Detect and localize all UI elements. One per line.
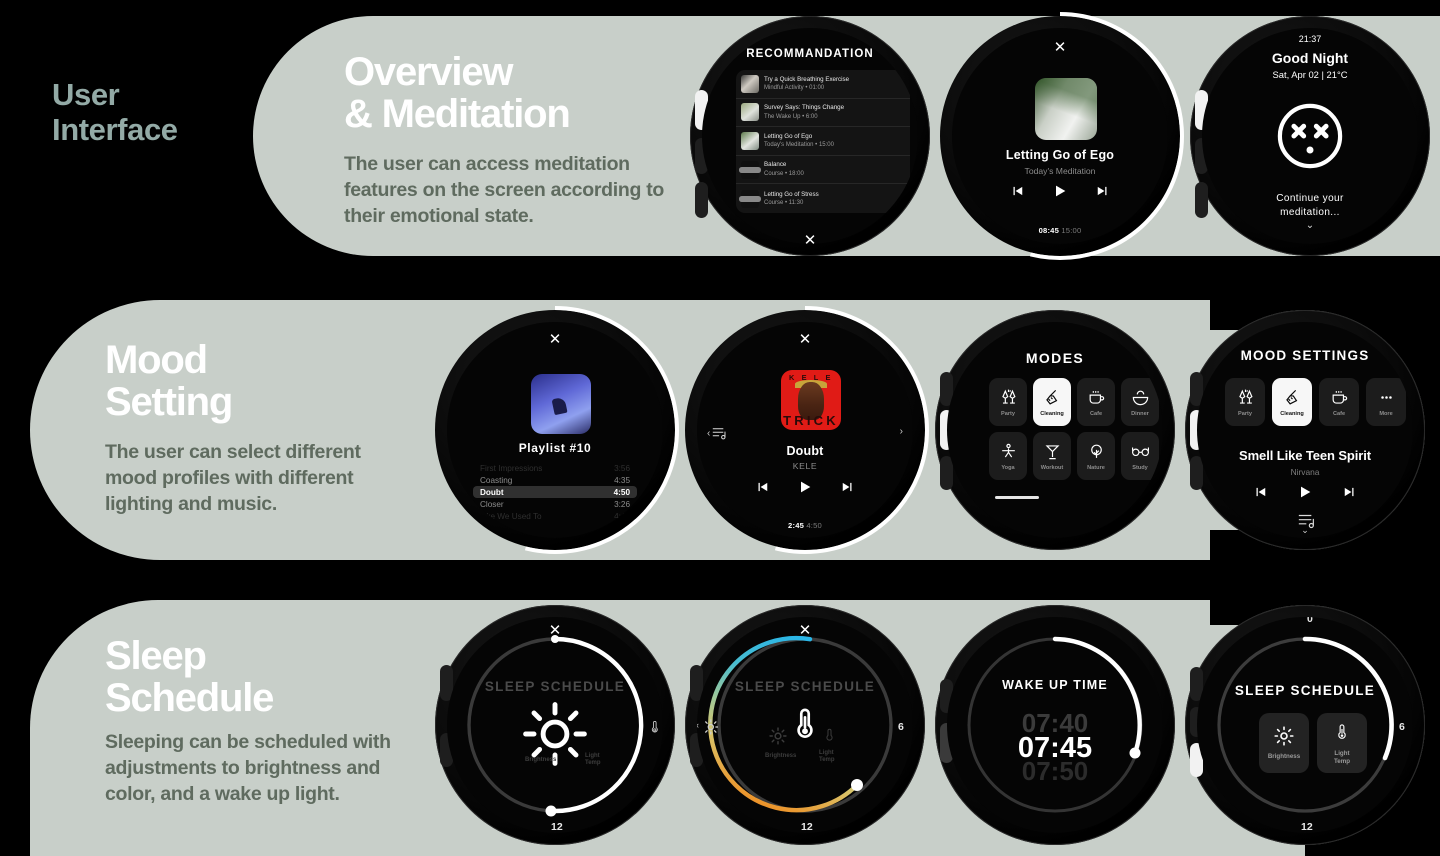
list-item[interactable]: First Impressions 3:56 [473, 462, 637, 474]
chevron-right-icon[interactable]: › [900, 426, 903, 437]
thermometer-icon [1334, 721, 1350, 743]
tile-label-line2: Temp [1334, 758, 1350, 765]
watch-music-player[interactable]: ✕ K E L E TRICK ‹ › Doubt KELE 2:45 4:50 [685, 310, 925, 550]
list-item[interactable]: Closer 3:26 [473, 498, 637, 510]
track-name: Coasting [480, 476, 512, 485]
player-controls [952, 183, 1168, 199]
watch-screen: ✕ Letting Go of Ego Today's Meditation 0… [952, 28, 1168, 244]
track-time: 3:56 [614, 464, 630, 473]
list-item-subtitle: Course • 11:30 [764, 199, 819, 208]
mode-label: Dinner [1131, 411, 1149, 417]
list-item-subtitle: Course • 18:00 [764, 170, 804, 179]
thermometer-icon [647, 721, 660, 734]
track-list[interactable]: First Impressions 3:56 Coasting 4:35 Dou… [473, 462, 637, 522]
playback-time: 08:45 15:00 [952, 226, 1168, 235]
dial-label-bottom: 12 [551, 821, 563, 833]
list-item-subtitle: The Wake Up • 6:00 [764, 113, 844, 122]
mood-tiles: Party Cleaning Cafe More [1225, 378, 1406, 426]
player-controls [1197, 484, 1413, 500]
watch-screen: RECOMMANDATION Try a Quick Breathing Exe… [702, 28, 918, 244]
broom-icon [1043, 388, 1062, 407]
list-item-title: Try a Quick Breathing Exercise [764, 75, 849, 84]
album-art: K E L E TRICK [781, 370, 841, 430]
tree-icon [1087, 442, 1106, 461]
track-time: 4:50 [614, 488, 630, 497]
dial-label-bottom: 12 [801, 821, 813, 833]
light-temp-ghost-label: Light Temp [585, 753, 609, 767]
wake-up-title: WAKE UP TIME [947, 678, 1163, 692]
list-item-subtitle: Mindful Activity • 01:00 [764, 84, 849, 93]
mood-tile-more[interactable]: More [1366, 378, 1406, 426]
queue-nav-left[interactable]: ‹ [707, 426, 729, 440]
brightness-ghost-label: Brightness [765, 753, 796, 760]
list-item[interactable]: Try a Quick Breathing Exercise Mindful A… [736, 70, 910, 99]
close-icon[interactable]: ✕ [702, 233, 918, 244]
brightness-tile[interactable]: Brightness [1259, 713, 1309, 773]
thermometer-icon-small [823, 727, 836, 743]
photo-thumb [741, 75, 759, 93]
mode-tile-cafe[interactable]: Cafe [1077, 378, 1115, 426]
duration-time: 4:50 [806, 521, 822, 530]
footer-line-2: meditation... [1202, 206, 1418, 220]
section-title-sleep-line2: Schedule [105, 678, 273, 720]
mood-settings-header: MOOD SETTINGS [1197, 348, 1413, 363]
watch-screen: ✕ SLEEP SCHEDULE [697, 617, 913, 833]
watch-recommendation[interactable]: RECOMMANDATION Try a Quick Breathing Exe… [690, 16, 930, 256]
track-artist: KELE [697, 461, 913, 471]
recommendation-list[interactable]: Try a Quick Breathing Exercise Mindful A… [736, 70, 910, 213]
sleep-title: SLEEP SCHEDULE [447, 679, 663, 694]
list-item-selected[interactable]: Doubt 4:50 [473, 486, 637, 498]
watch-good-night[interactable]: 21:37 Good Night Sat, Apr 02 | 21°C Cont… [1190, 16, 1430, 256]
sleep-controls: Brightness LightTemp [1259, 713, 1367, 773]
modes-grid-row-1: Party Cleaning Cafe Dinner Reading [989, 378, 1163, 426]
list-item-title: Letting Go of Ego [764, 132, 834, 141]
watch-sleep-light-temp[interactable]: ✕ SLEEP SCHEDULE [685, 605, 925, 845]
list-item[interactable]: Coasting 4:35 [473, 474, 637, 486]
dizzy-face-icon [1275, 101, 1345, 171]
dial-label-top: 0 [1307, 617, 1313, 625]
sun-icon [1274, 726, 1294, 746]
photo-thumb [741, 132, 759, 150]
track-subtitle: Today's Meditation [952, 166, 1168, 176]
watch-screen: SLEEP SCHEDULE Brightness [1197, 617, 1413, 833]
section-body-mood: The user can select different mood profi… [105, 440, 395, 518]
list-item-title: Survey Says: Things Change [764, 103, 844, 112]
mode-label: Yoga [1001, 465, 1014, 471]
track-time: 4:41 [614, 512, 630, 521]
watch-screen: ✕ K E L E TRICK ‹ › Doubt KELE 2:45 4:50 [697, 322, 913, 538]
mood-tile-cafe[interactable]: Cafe [1319, 378, 1359, 426]
track-title: Smell Like Teen Spirit [1197, 448, 1413, 463]
list-item[interactable]: Survey Says: Things Change The Wake Up •… [736, 99, 910, 128]
track-name: Doubt [480, 488, 504, 497]
mode-label: Cafe [1090, 411, 1102, 417]
mode-tile-study[interactable]: Study [1121, 432, 1159, 480]
mood-label: Cafe [1333, 411, 1345, 417]
footer-line-1: Continue your [1202, 192, 1418, 206]
watch-screen: WAKE UP TIME 07:40 07:45 07:50 [947, 617, 1163, 833]
watch-screen: 21:37 Good Night Sat, Apr 02 | 21°C Cont… [1202, 28, 1418, 244]
yoga-pose-icon [999, 442, 1018, 461]
player-controls [697, 479, 913, 495]
section-title-sleep-line1: Sleep [105, 636, 273, 678]
track-artist: Nirvana [1197, 467, 1413, 477]
mode-tile-party[interactable]: Party [989, 378, 1027, 426]
track-time: 4:35 [614, 476, 630, 485]
cheers-icon [999, 388, 1018, 407]
watch-sleep-schedule[interactable]: SLEEP SCHEDULE Brightness [1185, 605, 1425, 845]
close-icon[interactable]: ✕ [697, 332, 913, 347]
dumbbell-icon [1043, 442, 1062, 461]
section-title-overview: Overview & Meditation [344, 52, 570, 135]
sleep-title: SLEEP SCHEDULE [1197, 683, 1413, 698]
brand-line-2: Interface [52, 113, 178, 148]
playlist-cover [531, 374, 591, 434]
elapsed-time: 2:45 [788, 521, 804, 530]
thermometer-icon [789, 695, 821, 753]
watch-side-button-bottom[interactable] [695, 182, 708, 218]
brightness-ghost-label: Brightness [525, 757, 556, 764]
duration-time: 15:00 [1061, 226, 1081, 235]
section-title-overview-line1: Overview [344, 52, 570, 94]
section-title-mood: Mood Setting [105, 340, 232, 423]
previous-icon[interactable] [1253, 485, 1267, 499]
list-item[interactable]: Balance Course • 18:00 [736, 156, 910, 185]
dinner-bowl-icon [1131, 388, 1150, 407]
list-item-title: Balance [764, 160, 804, 169]
list-item[interactable]: Like We Used To 4:41 [473, 510, 637, 522]
section-title-mood-line2: Setting [105, 382, 232, 424]
brand-title: User Interface [52, 78, 178, 147]
course-thumb [741, 190, 759, 208]
track-name: Closer [480, 500, 504, 509]
mode-label: Party [1001, 411, 1015, 417]
section-body-sleep: Sleeping can be scheduled with adjustmen… [105, 730, 425, 808]
greeting-text: Good Night [1202, 50, 1418, 66]
mood-label: Cleaning [1280, 411, 1304, 417]
watch-meditation-player[interactable]: ✕ Letting Go of Ego Today's Meditation 0… [940, 16, 1180, 256]
chevron-down-icon[interactable]: ⌄ [1202, 220, 1418, 231]
chevron-left-icon[interactable]: ‹ [707, 428, 710, 439]
album-art [1035, 78, 1097, 140]
album-title-label: TRICK [781, 413, 841, 428]
sun-icon-small [769, 727, 787, 745]
mood-label: More [1379, 411, 1392, 417]
course-thumb [741, 161, 759, 179]
sleep-title: SLEEP SCHEDULE [697, 679, 913, 694]
watch-screen: ✕ Playlist #10 First Impressions 3:56 Co… [447, 322, 663, 538]
track-title: Letting Go of Ego [952, 148, 1168, 162]
mode-tile-workout[interactable]: Workout [1033, 432, 1071, 480]
tile-label: Brightness [1268, 753, 1300, 760]
track-title: Doubt [697, 444, 913, 458]
elapsed-time: 08:45 [1039, 226, 1059, 235]
list-item-title: Letting Go of Stress [764, 190, 819, 199]
dial-label-right: 6 [898, 721, 904, 733]
more-dots-icon [1377, 388, 1396, 407]
tile-label-line1: Light [1334, 750, 1349, 757]
sun-icon-side[interactable] [702, 719, 718, 735]
play-icon[interactable] [1052, 183, 1068, 199]
section-title-mood-line1: Mood [105, 340, 232, 382]
play-icon[interactable] [797, 479, 813, 495]
tile-label: LightTemp [1334, 750, 1350, 765]
modes-header: MODES [947, 350, 1163, 366]
mode-tile-nature[interactable]: Nature [1077, 432, 1115, 480]
mood-tile-party[interactable]: Party [1225, 378, 1265, 426]
watch-playlist[interactable]: ✕ Playlist #10 First Impressions 3:56 Co… [435, 310, 675, 550]
play-icon[interactable] [1297, 484, 1313, 500]
time-next[interactable]: 07:50 [947, 756, 1163, 787]
brand-line-1: User [52, 78, 178, 113]
queue-list-icon[interactable] [712, 426, 729, 440]
track-name: First Impressions [480, 464, 542, 473]
track-time: 3:26 [614, 500, 630, 509]
track-name: Like We Used To [480, 512, 542, 521]
mood-label: Party [1238, 411, 1252, 417]
playback-time: 2:45 4:50 [697, 521, 913, 530]
dial-label-right: 6 [1399, 721, 1405, 733]
watch-sleep-brightness[interactable]: ✕ SLEEP SCHEDULE Brightness Light Temp 1… [435, 605, 675, 845]
date-weather: Sat, Apr 02 | 21°C [1202, 69, 1418, 80]
watch-screen: MODES Party Cleaning Cafe Dinner Reading [947, 322, 1163, 538]
light-temp-tile[interactable]: LightTemp [1317, 713, 1367, 773]
list-item-subtitle: Today's Meditation • 15:00 [764, 141, 834, 150]
light-temp-ghost-label: Light Temp [819, 750, 843, 764]
modes-grid-row-2: Yoga Workout Nature Study Shuffle [989, 432, 1163, 480]
playlist-title: Playlist #10 [447, 441, 663, 455]
mode-label: Nature [1087, 465, 1105, 471]
mode-label: Cleaning [1040, 411, 1064, 417]
next-icon[interactable] [841, 480, 855, 494]
photo-thumb [741, 103, 759, 121]
mode-tile-dinner[interactable]: Dinner [1121, 378, 1159, 426]
watch-mood-settings[interactable]: MOOD SETTINGS Party Cleaning Cafe More S… [1185, 310, 1425, 550]
home-indicator[interactable] [995, 496, 1039, 499]
coffee-cup-icon [1087, 388, 1106, 407]
glasses-icon [1131, 442, 1150, 461]
broom-icon [1283, 388, 1302, 407]
footer-text: Continue your meditation... [1202, 192, 1418, 220]
mode-label: Study [1132, 465, 1148, 471]
previous-icon[interactable] [1010, 184, 1024, 198]
coffee-cup-icon [1330, 388, 1349, 407]
mood-tile-cleaning[interactable]: Cleaning [1272, 378, 1312, 426]
watch-modes[interactable]: MODES Party Cleaning Cafe Dinner Reading [935, 310, 1175, 550]
cheers-icon [1236, 388, 1255, 407]
watch-screen: ✕ SLEEP SCHEDULE Brightness Light Temp 1… [447, 617, 663, 833]
section-body-overview: The user can access meditation features … [344, 152, 669, 230]
clock-time: 21:37 [1202, 34, 1418, 44]
chevron-left-icon[interactable]: ‹ [697, 720, 699, 730]
mode-label: Workout [1041, 465, 1064, 471]
mode-tile-cleaning[interactable]: Cleaning [1033, 378, 1071, 426]
section-title-overview-line2: & Meditation [344, 94, 570, 136]
recommendation-header: RECOMMANDATION [702, 48, 918, 60]
next-icon[interactable] [1343, 485, 1357, 499]
next-icon[interactable] [1096, 184, 1110, 198]
chevron-down-icon[interactable]: ⌄ [1197, 525, 1413, 536]
watch-wake-up-time[interactable]: WAKE UP TIME 07:40 07:45 07:50 [935, 605, 1175, 845]
watch-screen: MOOD SETTINGS Party Cleaning Cafe More S… [1197, 322, 1413, 538]
previous-icon[interactable] [755, 480, 769, 494]
close-icon[interactable]: ✕ [952, 40, 1168, 55]
dial-label-bottom: 12 [1301, 821, 1313, 833]
list-item[interactable]: Letting Go of Stress Course • 11:30 [736, 184, 910, 213]
close-icon[interactable]: ✕ [447, 332, 663, 347]
mode-tile-yoga[interactable]: Yoga [989, 432, 1027, 480]
section-title-sleep: Sleep Schedule [105, 636, 273, 719]
list-item[interactable]: Letting Go of Ego Today's Meditation • 1… [736, 127, 910, 156]
